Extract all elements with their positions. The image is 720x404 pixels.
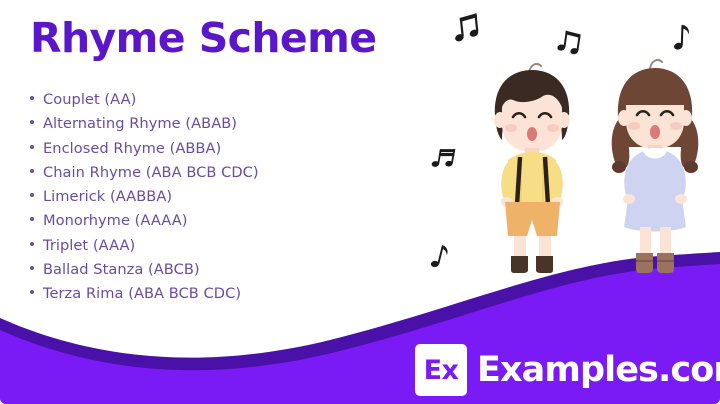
list-item-label: Couplet (AA) [43, 88, 136, 112]
list-item: Monorhyme (AAAA) [30, 209, 360, 233]
logo-mark: Ex [415, 344, 467, 396]
list-item: Terza Rima (ABA BCB CDC) [30, 282, 360, 306]
beamed-eighth-notes-icon [450, 10, 490, 50]
list-item: Alternating Rhyme (ABAB) [30, 112, 360, 136]
bullet-dot-icon [30, 193, 34, 197]
bullet-dot-icon [30, 266, 34, 270]
list-item-label: Monorhyme (AAAA) [43, 209, 188, 233]
singing-boy [477, 58, 587, 283]
list-item-label: Ballad Stanza (ABCB) [43, 258, 200, 282]
list-item: Enclosed Rhyme (ABBA) [30, 137, 360, 161]
list-item-label: Chain Rhyme (ABA BCB CDC) [43, 161, 259, 185]
beamed-eighth-notes-icon [427, 142, 464, 179]
rhyme-scheme-list: Couplet (AA) Alternating Rhyme (ABAB) En… [30, 88, 360, 307]
page-title: Rhyme Scheme [30, 14, 376, 62]
singing-girl [600, 55, 710, 283]
list-item-label: Enclosed Rhyme (ABBA) [43, 137, 221, 161]
list-item: Chain Rhyme (ABA BCB CDC) [30, 161, 360, 185]
list-item-label: Triplet (AAA) [43, 234, 135, 258]
list-item: Ballad Stanza (ABCB) [30, 258, 360, 282]
eighth-note-icon [423, 239, 455, 274]
bullet-dot-icon [30, 120, 34, 124]
bullet-dot-icon [30, 169, 34, 173]
infographic-canvas: Rhyme Scheme Couplet (AA) Alternating Rh… [0, 0, 720, 404]
bullet-dot-icon [30, 290, 34, 294]
logo-mark-text: Ex [424, 357, 459, 384]
bullet-dot-icon [30, 217, 34, 221]
bullet-dot-icon [30, 96, 34, 100]
bullet-dot-icon [30, 242, 34, 246]
logo-wordmark: Examples.com [477, 351, 720, 389]
list-item: Couplet (AA) [30, 88, 360, 112]
list-item: Triplet (AAA) [30, 234, 360, 258]
list-item-label: Limerick (AABBA) [43, 185, 172, 209]
list-item-label: Alternating Rhyme (ABAB) [43, 112, 237, 136]
bullet-dot-icon [30, 145, 34, 149]
eighth-note-icon [666, 22, 695, 55]
list-item: Limerick (AABBA) [30, 185, 360, 209]
list-item-label: Terza Rima (ABA BCB CDC) [43, 282, 241, 306]
examples-logo[interactable]: Ex Examples.com [415, 344, 720, 396]
beamed-eighth-notes-icon [554, 26, 590, 62]
